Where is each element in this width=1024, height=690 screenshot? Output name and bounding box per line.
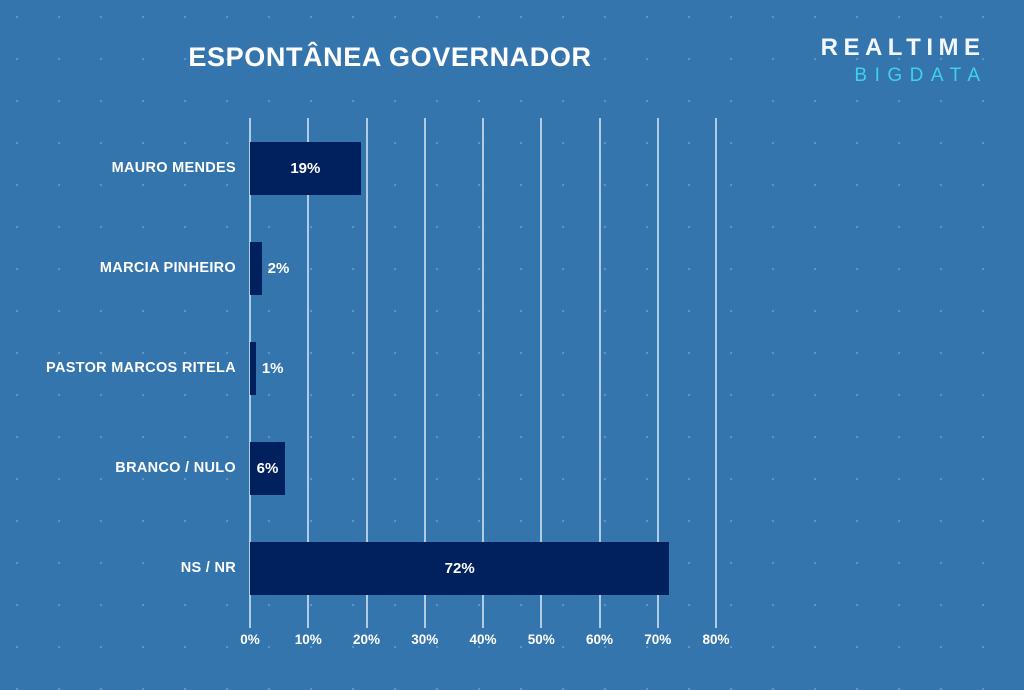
- axis-tick: [482, 618, 484, 628]
- axis-tick: [540, 618, 542, 628]
- axis-tick: [249, 618, 251, 628]
- page-title: ESPONTÂNEA GOVERNADOR: [0, 42, 780, 73]
- category-label: MARCIA PINHEIRO: [100, 242, 236, 295]
- x-tick-label: 40%: [469, 632, 496, 647]
- category-label: MAURO MENDES: [112, 142, 236, 195]
- slide-canvas: ESPONTÂNEA GOVERNADOR REALTIME BIGDATA M…: [0, 0, 1024, 690]
- bar-row: BRANCO / NULO6%: [250, 418, 716, 518]
- axis-tick: [366, 618, 368, 628]
- bar-value-label: 6%: [250, 442, 285, 495]
- category-label: PASTOR MARCOS RITELA: [46, 342, 236, 395]
- x-tick-label: 30%: [411, 632, 438, 647]
- x-tick-label: 20%: [353, 632, 380, 647]
- x-tick-label: 80%: [702, 632, 729, 647]
- axis-tick: [307, 618, 309, 628]
- category-label: BRANCO / NULO: [115, 442, 236, 495]
- bar-row: NS / NR72%: [250, 518, 716, 618]
- x-tick-label: 70%: [644, 632, 671, 647]
- brand-secondary-text: BIGDATA: [821, 66, 988, 85]
- bar-row: PASTOR MARCOS RITELA1%: [250, 318, 716, 418]
- x-tick-label: 0%: [240, 632, 260, 647]
- category-label: NS / NR: [181, 542, 236, 595]
- bar-row: MAURO MENDES19%: [250, 118, 716, 218]
- bar-chart-plot-area: MAURO MENDES19%MARCIA PINHEIRO2%PASTOR M…: [250, 118, 716, 618]
- axis-tick: [715, 618, 717, 628]
- x-tick-label: 60%: [586, 632, 613, 647]
- bar-value-label: 2%: [262, 242, 290, 295]
- bar: [250, 242, 262, 295]
- axis-tick: [599, 618, 601, 628]
- bar-row: MARCIA PINHEIRO2%: [250, 218, 716, 318]
- x-tick-label: 50%: [528, 632, 555, 647]
- axis-tick: [424, 618, 426, 628]
- axis-tick: [657, 618, 659, 628]
- bar-value-label: 72%: [250, 542, 669, 595]
- brand-primary-text: REALTIME: [821, 36, 986, 60]
- x-tick-label: 10%: [295, 632, 322, 647]
- brand-logo: REALTIME BIGDATA: [821, 36, 980, 85]
- bar-value-label: 19%: [250, 142, 361, 195]
- bar-value-label: 1%: [256, 342, 284, 395]
